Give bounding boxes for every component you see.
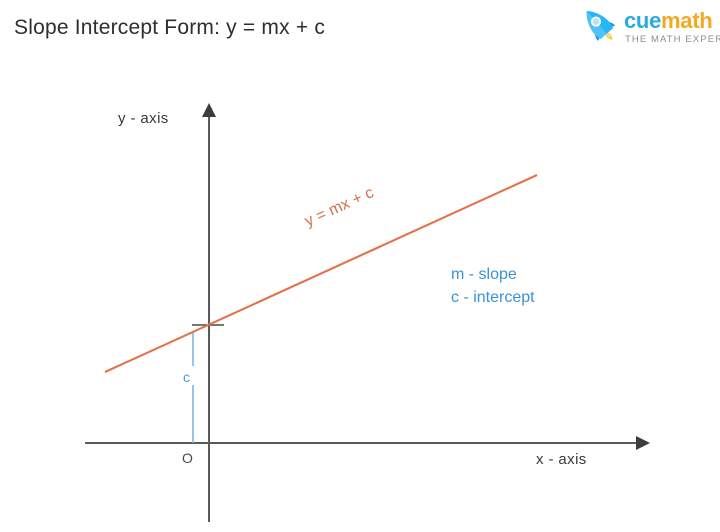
coordinate-plane	[0, 0, 720, 532]
legend: m - slope c - intercept	[451, 263, 535, 309]
intercept-label: c	[183, 369, 190, 385]
slope-intercept-figure: Slope Intercept Form: y = mx + c cuemath…	[0, 0, 720, 532]
x-axis-arrowhead	[636, 436, 650, 450]
y-axis-label: y - axis	[118, 110, 169, 127]
y-axis-arrowhead	[202, 103, 216, 117]
legend-item-slope: m - slope	[451, 263, 535, 286]
origin-label: O	[182, 450, 193, 466]
x-axis-label: x - axis	[536, 451, 587, 468]
legend-item-intercept: c - intercept	[451, 286, 535, 309]
